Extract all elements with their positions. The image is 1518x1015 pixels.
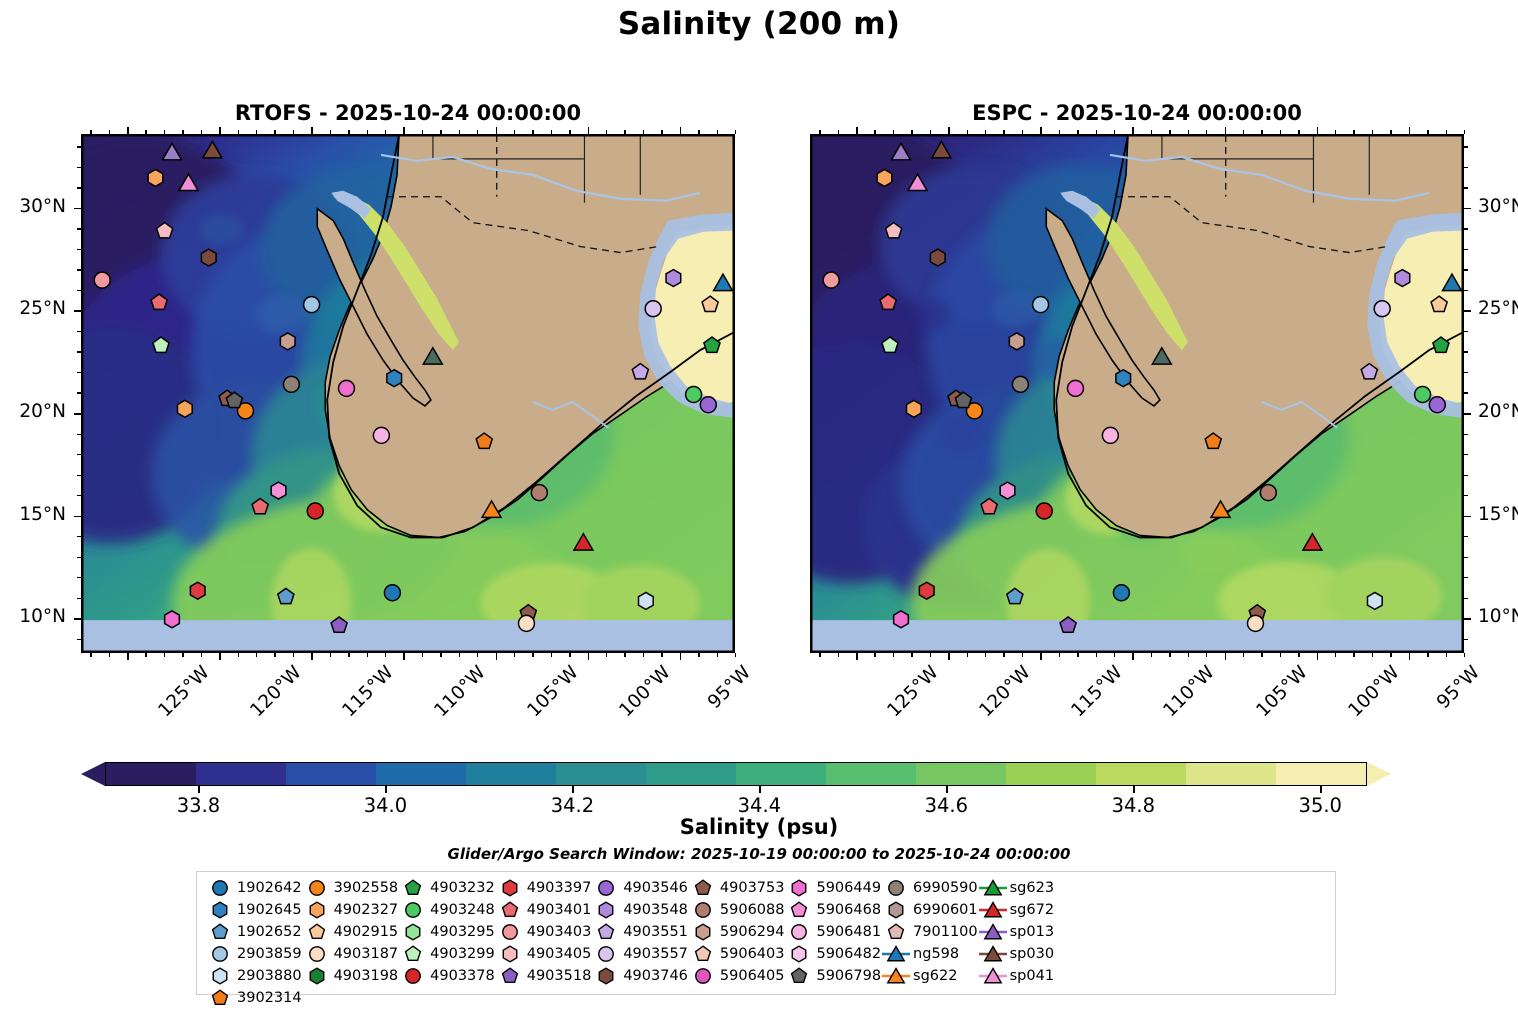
legend-marker-5906088 <box>688 899 718 921</box>
ytick-right <box>1464 208 1471 210</box>
legend-label-1902642: 1902642 <box>235 880 302 896</box>
colorbar-tick-label: 35.0 <box>1299 794 1342 817</box>
legend-item-4903397[interactable]: 4903397 <box>495 877 592 899</box>
ytick-minor-right <box>1464 557 1468 558</box>
map-marker-5906088[interactable] <box>1260 485 1276 501</box>
legend-item-4903295[interactable]: 4903295 <box>398 921 495 943</box>
legend-marker-5906468 <box>784 899 814 921</box>
map-marker-4903401b[interactable] <box>252 498 268 513</box>
xtick-top-right <box>948 127 950 134</box>
legend-item-sp041[interactable]: sp041 <box>978 965 1054 987</box>
xtick-minor-right <box>1280 653 1281 657</box>
legend-item-ng598[interactable]: ng598 <box>881 943 978 965</box>
map-marker-5906449[interactable] <box>894 611 909 628</box>
xtick-label-right: 120°W <box>976 662 1035 721</box>
map-marker-2903880[interactable] <box>639 592 654 609</box>
map-marker-1902645[interactable] <box>387 370 402 387</box>
legend-item-1902642[interactable]: 1902642 <box>205 877 302 899</box>
ytick-label-left: 25°N <box>0 298 66 319</box>
legend-item-4902915[interactable]: 4902915 <box>302 921 399 943</box>
xtick-minor-top-right <box>1427 130 1428 134</box>
legend-label-6990601: 6990601 <box>911 902 978 918</box>
map-marker-2903859[interactable] <box>304 297 320 313</box>
legend-item-4903401[interactable]: 4903401 <box>495 899 592 921</box>
map-marker-4903548[interactable] <box>666 270 681 287</box>
ytick-minor-right <box>1464 187 1468 188</box>
map-marker-sp030b[interactable] <box>423 348 442 364</box>
map-marker-sp013[interactable] <box>162 143 181 159</box>
legend-label-4903746: 4903746 <box>621 968 688 984</box>
xtick-minor-right <box>819 653 820 657</box>
map-marker-2903880[interactable] <box>1368 592 1383 609</box>
legend-item-5906449[interactable]: 5906449 <box>784 877 881 899</box>
map-marker-4903232[interactable] <box>1433 337 1449 352</box>
pentagon-marker-icon <box>784 899 814 921</box>
legend-item-3902314[interactable]: 3902314 <box>205 987 302 1009</box>
xtick-minor-left <box>698 653 699 657</box>
colorbar-extend-min <box>81 762 105 786</box>
legend-item-5906088[interactable]: 5906088 <box>688 899 785 921</box>
xtick-minor-top-left <box>293 130 294 134</box>
legend-label-4903548: 4903548 <box>621 902 688 918</box>
map-marker-ng598[interactable] <box>713 274 732 290</box>
pentagon-marker-icon <box>784 965 814 987</box>
platform-markers-espc[interactable] <box>811 135 1463 652</box>
map-marker-4903518[interactable] <box>331 617 347 632</box>
ytick-right <box>1464 310 1471 312</box>
xtick-minor-left <box>477 653 478 657</box>
legend-label-sg672: sg672 <box>1008 902 1054 918</box>
legend-item-sp013[interactable]: sp013 <box>978 921 1054 943</box>
map-marker-1902652[interactable] <box>278 588 294 603</box>
legend-item-4903518[interactable]: 4903518 <box>495 965 592 987</box>
xtick-minor-right <box>985 653 986 657</box>
xtick-left <box>496 653 498 660</box>
hexagon-marker-icon <box>205 899 235 921</box>
legend-marker-4903299 <box>398 943 428 965</box>
map-marker-5906405[interactable] <box>338 380 354 396</box>
circle-marker-icon <box>784 921 814 943</box>
map-marker-5906468[interactable] <box>271 482 286 499</box>
xtick-label-left: 125°W <box>154 662 213 721</box>
xtick-minor-top-right <box>1151 130 1152 134</box>
legend-item-7901100[interactable]: 7901100 <box>881 921 978 943</box>
map-marker-4903403[interactable] <box>823 272 839 288</box>
map-marker-sp041[interactable] <box>908 174 927 190</box>
xtick-minor-top-right <box>967 130 968 134</box>
legend-marker-4903232 <box>398 877 428 899</box>
ytick-minor-right <box>1464 639 1468 640</box>
triangle-line-marker-icon <box>978 921 1008 943</box>
circle-marker-icon <box>591 943 621 965</box>
ytick-label-right: 20°N <box>1478 401 1518 422</box>
ytick-minor-right <box>1464 351 1468 352</box>
legend-item-4903551[interactable]: 4903551 <box>591 921 688 943</box>
legend-marker-5906405 <box>688 965 718 987</box>
xtick-minor-left <box>385 653 386 657</box>
circle-marker-icon <box>591 877 621 899</box>
xtick-minor-left <box>717 653 718 657</box>
xtick-minor-top-right <box>1372 130 1373 134</box>
map-panel-rtofs[interactable] <box>81 134 735 653</box>
ytick-minor-left <box>77 331 81 332</box>
xtick-minor-right <box>967 653 968 657</box>
legend-item-2903859[interactable]: 2903859 <box>205 943 302 965</box>
ytick-minor-right <box>1464 495 1468 496</box>
legend-item-sg622[interactable]: sg622 <box>881 965 978 987</box>
xtick-minor-top-left <box>145 130 146 134</box>
map-marker-sg672[interactable] <box>574 534 593 550</box>
xtick-minor-top-left <box>348 130 349 134</box>
xtick-minor-left <box>348 653 349 657</box>
xtick-minor-left <box>367 653 368 657</box>
legend-marker-2903859 <box>205 943 235 965</box>
map-marker-4903248[interactable] <box>686 387 702 403</box>
legend-item-5906294[interactable]: 5906294 <box>688 921 785 943</box>
legend-marker-1902652 <box>205 921 235 943</box>
xtick-minor-left <box>182 653 183 657</box>
colorbar-band-8 <box>826 763 916 785</box>
map-marker-6990590[interactable] <box>283 376 299 392</box>
ytick-minor-right <box>1464 372 1468 373</box>
map-marker-4903397[interactable] <box>190 582 205 599</box>
map-marker-5906294[interactable] <box>1009 333 1024 350</box>
legend-item-4903378[interactable]: 4903378 <box>398 965 495 987</box>
ytick-left <box>74 516 81 518</box>
map-marker-4903397[interactable] <box>919 582 934 599</box>
legend-item-5906481[interactable]: 5906481 <box>784 921 881 943</box>
map-marker-ng598[interactable] <box>1442 274 1461 290</box>
pentagon-marker-icon <box>688 877 718 899</box>
legend-item-1902645[interactable]: 1902645 <box>205 899 302 921</box>
map-marker-4903518[interactable] <box>1060 617 1076 632</box>
ytick-minor-right <box>1464 167 1468 168</box>
legend-marker-4903546 <box>591 877 621 899</box>
colorbar-band-13 <box>1276 763 1366 785</box>
legend-label-6990590: 6990590 <box>911 880 978 896</box>
map-marker-1902642[interactable] <box>1113 585 1129 601</box>
legend-marker-4903746 <box>591 965 621 987</box>
triangle-line-marker-icon <box>881 965 911 987</box>
map-marker-4903401[interactable] <box>880 294 896 309</box>
map-marker-4903405[interactable] <box>157 223 173 238</box>
map-marker-4903378[interactable] <box>1036 503 1052 519</box>
xtick-minor-top-right <box>985 130 986 134</box>
legend-item-4903405[interactable]: 4903405 <box>495 943 592 965</box>
legend-item-1902652[interactable]: 1902652 <box>205 921 302 943</box>
map-marker-2903859[interactable] <box>1033 297 1049 313</box>
map-marker-sp030b[interactable] <box>1152 348 1171 364</box>
search-window-caption: Glider/Argo Search Window: 2025-10-19 00… <box>0 845 1518 863</box>
legend-item-5906468[interactable]: 5906468 <box>784 899 881 921</box>
legend-marker-4902915 <box>302 921 332 943</box>
xtick-minor-top-left <box>238 130 239 134</box>
ytick-minor-right <box>1464 434 1468 435</box>
legend-item-4903248[interactable]: 4903248 <box>398 899 495 921</box>
xtick-minor-top-right <box>1280 130 1281 134</box>
xtick-left <box>311 653 313 660</box>
legend-item-4903557[interactable]: 4903557 <box>591 943 688 965</box>
colorbar-gradient <box>105 762 1367 786</box>
map-marker-sp041[interactable] <box>179 174 198 190</box>
xtick-right <box>1317 653 1319 660</box>
ytick-minor-left <box>77 351 81 352</box>
xtick-minor-right <box>1114 653 1115 657</box>
xtick-minor-right <box>1390 653 1391 657</box>
pentagon-marker-icon <box>205 987 235 1009</box>
colorbar-extend-max <box>1367 762 1391 786</box>
map-marker-4902327[interactable] <box>877 169 892 186</box>
legend-item-4902327[interactable]: 4902327 <box>302 899 399 921</box>
map-marker-4903299[interactable] <box>882 337 898 352</box>
xtick-minor-top-left <box>569 130 570 134</box>
ytick-minor-left <box>77 475 81 476</box>
legend-item-5906403[interactable]: 5906403 <box>688 943 785 965</box>
map-marker-4903548[interactable] <box>1395 270 1410 287</box>
xtick-minor-right <box>1059 653 1060 657</box>
legend-item-4903753[interactable]: 4903753 <box>688 877 785 899</box>
legend-item-3902558[interactable]: 3902558 <box>302 877 399 899</box>
ytick-minor-left <box>77 536 81 537</box>
map-marker-1902645[interactable] <box>1116 370 1131 387</box>
colorbar-band-7 <box>736 763 826 785</box>
map-marker-5906481[interactable] <box>1102 427 1118 443</box>
map-marker-sg672[interactable] <box>1303 534 1322 550</box>
legend-item-4903546[interactable]: 4903546 <box>591 877 688 899</box>
legend-item-4903403[interactable]: 4903403 <box>495 921 592 943</box>
colorbar-band-9 <box>916 763 1006 785</box>
xtick-minor-top-right <box>1206 130 1207 134</box>
map-marker-4903232[interactable] <box>704 337 720 352</box>
legend-item-4903187[interactable]: 4903187 <box>302 943 399 965</box>
xtick-minor-top-left <box>440 130 441 134</box>
map-marker-5906405[interactable] <box>1067 380 1083 396</box>
legend-column-1: 39025584902327490291549031874903198 <box>302 877 399 990</box>
circle-marker-icon <box>205 943 235 965</box>
xtick-minor-top-right <box>1335 130 1336 134</box>
xtick-minor-top-left <box>717 130 718 134</box>
ytick-label-left: 20°N <box>0 401 66 422</box>
legend-item-4903232[interactable]: 4903232 <box>398 877 495 899</box>
xtick-minor-right <box>1261 653 1262 657</box>
xtick-minor-top-left <box>624 130 625 134</box>
ytick-minor-right <box>1464 269 1468 270</box>
xtick-top-left <box>680 127 682 134</box>
legend-marker-4903295 <box>398 921 428 943</box>
map-marker-sp030[interactable] <box>203 141 222 157</box>
legend-label-5906405: 5906405 <box>718 968 785 984</box>
ytick-minor-right <box>1464 331 1468 332</box>
map-marker-4903378[interactable] <box>307 503 323 519</box>
ytick-minor-left <box>77 269 81 270</box>
legend-label-1902645: 1902645 <box>235 902 302 918</box>
map-panel-espc[interactable] <box>810 134 1464 653</box>
legend-item-5906405[interactable]: 5906405 <box>688 965 785 987</box>
legend-label-sp013: sp013 <box>1008 924 1054 940</box>
map-marker-4903557[interactable] <box>1374 301 1390 317</box>
map-marker-1902652[interactable] <box>1007 588 1023 603</box>
map-marker-1902642[interactable] <box>384 585 400 601</box>
legend-item-sg623[interactable]: sg623 <box>978 877 1054 899</box>
legend-label-4902915: 4902915 <box>332 924 399 940</box>
map-marker-4902915[interactable] <box>702 296 718 311</box>
legend-label-ng598: ng598 <box>911 946 959 962</box>
map-marker-3902314[interactable] <box>476 433 492 448</box>
circle-marker-icon <box>398 899 428 921</box>
xtick-minor-right <box>1188 653 1189 657</box>
xtick-minor-top-left <box>606 130 607 134</box>
map-marker-sg622[interactable] <box>1211 501 1230 517</box>
xtick-minor-top-right <box>1243 130 1244 134</box>
xtick-minor-top-left <box>367 130 368 134</box>
xtick-minor-top-right <box>1188 130 1189 134</box>
hexagon-marker-icon <box>205 965 235 987</box>
legend-label-1902652: 1902652 <box>235 924 302 940</box>
xtick-top-left <box>496 127 498 134</box>
map-marker-5906088[interactable] <box>531 485 547 501</box>
map-marker-5906449[interactable] <box>165 611 180 628</box>
legend-item-5906798[interactable]: 5906798 <box>784 965 881 987</box>
xtick-top-left <box>311 127 313 134</box>
xtick-minor-top-left <box>514 130 515 134</box>
map-marker-3902314[interactable] <box>1205 433 1221 448</box>
colorbar-tick <box>1320 786 1321 793</box>
legend-marker-5906449 <box>784 877 814 899</box>
map-marker-4903551[interactable] <box>1361 364 1377 379</box>
ytick-minor-right <box>1464 454 1468 455</box>
colorbar-tick-label: 34.6 <box>925 794 968 817</box>
legend-item-2903880[interactable]: 2903880 <box>205 965 302 987</box>
map-marker-sp030[interactable] <box>932 141 951 157</box>
colorbar-band-4 <box>466 763 556 785</box>
map-marker-4902327b[interactable] <box>178 400 193 417</box>
map-marker-sp013[interactable] <box>891 143 910 159</box>
xtick-top-left <box>588 127 590 134</box>
xtick-minor-top-left <box>532 130 533 134</box>
xtick-left <box>680 653 682 660</box>
colorbar-tick <box>572 786 573 793</box>
legend-marker-4903518 <box>495 965 525 987</box>
xtick-minor-left <box>624 653 625 657</box>
map-marker-4902327b[interactable] <box>907 400 922 417</box>
ytick-minor-right <box>1464 598 1468 599</box>
map-marker-6990590[interactable] <box>1012 376 1028 392</box>
xtick-label-left: 100°W <box>615 662 674 721</box>
map-marker-4903401b[interactable] <box>981 498 997 513</box>
xtick-minor-left <box>661 653 662 657</box>
ytick-label-right: 25°N <box>1478 298 1518 319</box>
legend-item-sg672[interactable]: sg672 <box>978 899 1054 921</box>
map-marker-4903746[interactable] <box>930 249 945 266</box>
xtick-minor-left <box>422 653 423 657</box>
xtick-minor-left <box>440 653 441 657</box>
figure-canvas: Salinity (200 m) RTOFS - 2025-10-24 00:0… <box>0 0 1518 1015</box>
xtick-top-left <box>127 127 129 134</box>
legend-marker-sp013 <box>978 921 1008 943</box>
ytick-minor-left <box>77 495 81 496</box>
map-marker-4903557[interactable] <box>645 301 661 317</box>
legend-item-sp030[interactable]: sp030 <box>978 943 1054 965</box>
ytick-right <box>1464 618 1471 620</box>
legend-marker-5906403 <box>688 943 718 965</box>
ytick-minor-left <box>77 249 81 250</box>
circle-marker-icon <box>688 965 718 987</box>
xtick-minor-right <box>1298 653 1299 657</box>
colorbar-tick-label: 34.0 <box>364 794 407 817</box>
xtick-right <box>1040 653 1042 660</box>
platform-markers-rtofs[interactable] <box>82 135 734 652</box>
xtick-minor-top-right <box>1114 130 1115 134</box>
legend-item-5906482[interactable]: 5906482 <box>784 943 881 965</box>
legend-label-sp030: sp030 <box>1008 946 1054 962</box>
map-marker-4903546[interactable] <box>700 397 716 413</box>
legend-item-4903198[interactable]: 4903198 <box>302 965 399 987</box>
map-marker-5906481[interactable] <box>373 427 389 443</box>
xtick-top-left <box>403 127 405 134</box>
hexagon-marker-icon <box>881 899 911 921</box>
triangle-line-marker-icon <box>978 965 1008 987</box>
map-marker-5906468[interactable] <box>1000 482 1015 499</box>
map-marker-5906294[interactable] <box>280 333 295 350</box>
xtick-left <box>127 653 129 660</box>
hexagon-marker-icon <box>784 943 814 965</box>
xtick-minor-right <box>1372 653 1373 657</box>
legend-column-0: 1902642190264519026522903859290388039023… <box>205 877 302 990</box>
legend-item-4903299[interactable]: 4903299 <box>398 943 495 965</box>
legend-column-5: 49037535906088590629459064035906405 <box>688 877 785 990</box>
map-marker-4903403[interactable] <box>94 272 110 288</box>
xtick-minor-top-left <box>661 130 662 134</box>
map-marker-4903187[interactable] <box>518 615 534 631</box>
legend-item-6990601[interactable]: 6990601 <box>881 899 978 921</box>
map-marker-4903187[interactable] <box>1247 615 1263 631</box>
ytick-minor-left <box>77 577 81 578</box>
map-marker-4902327[interactable] <box>148 169 163 186</box>
xtick-minor-left <box>293 653 294 657</box>
colorbar-tick-label: 34.8 <box>1112 794 1155 817</box>
circle-marker-icon <box>302 943 332 965</box>
legend-item-4903548[interactable]: 4903548 <box>591 899 688 921</box>
map-marker-4903546[interactable] <box>1429 397 1445 413</box>
xtick-minor-top-left <box>90 130 91 134</box>
platform-legend[interactable]: 1902642190264519026522903859290388039023… <box>196 871 1336 995</box>
legend-item-4903746[interactable]: 4903746 <box>591 965 688 987</box>
xtick-minor-left <box>514 653 515 657</box>
map-marker-4902915[interactable] <box>1431 296 1447 311</box>
legend-label-sp041: sp041 <box>1008 968 1054 984</box>
xtick-minor-top-right <box>1298 130 1299 134</box>
map-marker-4903299[interactable] <box>153 337 169 352</box>
pentagon-marker-icon <box>881 921 911 943</box>
legend-column-4: 49035464903548490355149035574903746 <box>591 877 688 990</box>
legend-item-6990590[interactable]: 6990590 <box>881 877 978 899</box>
legend-label-4903299: 4903299 <box>428 946 495 962</box>
map-marker-4903248[interactable] <box>1415 387 1431 403</box>
circle-marker-icon <box>205 877 235 899</box>
map-marker-4903551[interactable] <box>632 364 648 379</box>
map-marker-4903401[interactable] <box>151 294 167 309</box>
xtick-minor-left <box>164 653 165 657</box>
ytick-minor-left <box>77 598 81 599</box>
ytick-minor-left <box>77 434 81 435</box>
map-marker-4903405[interactable] <box>886 223 902 238</box>
ytick-minor-left <box>77 167 81 168</box>
map-marker-4903746[interactable] <box>201 249 216 266</box>
map-marker-sg622[interactable] <box>482 501 501 517</box>
legend-column-7: 699059069906017901100ng598sg622 <box>881 877 978 990</box>
triangle-line-marker-icon <box>978 943 1008 965</box>
xtick-label-left: 115°W <box>339 662 398 721</box>
